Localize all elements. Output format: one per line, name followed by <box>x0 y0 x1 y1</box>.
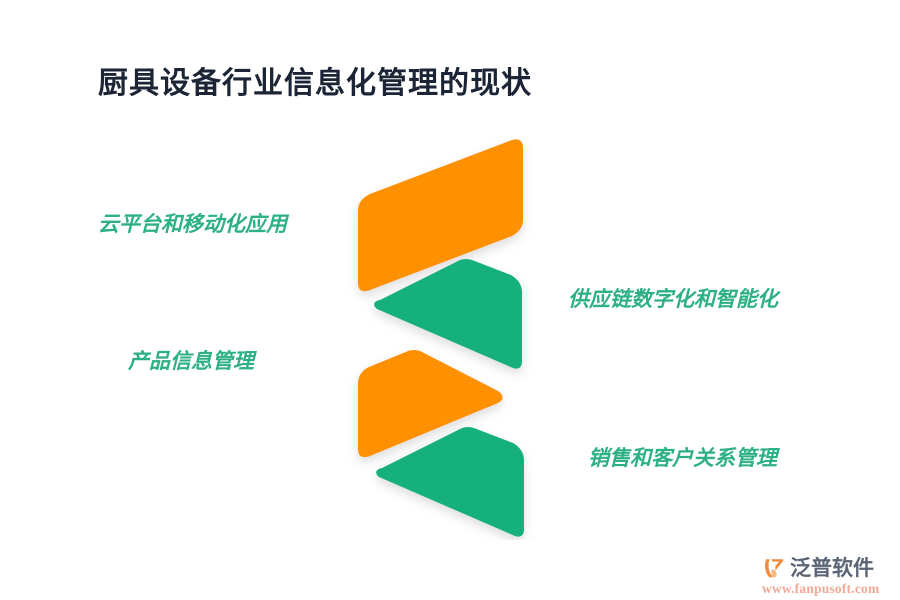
stage-label-supply-chain: 供应链数字化和智能化 <box>568 283 778 313</box>
stage-label-product-info: 产品信息管理 <box>128 345 254 375</box>
stage-label-cloud-platform: 云平台和移动化应用 <box>98 208 287 238</box>
brand-watermark: 泛普软件 www.fanpusoft.com <box>762 556 894 598</box>
brand-name: 泛普软件 <box>790 556 874 580</box>
brand-url: www.fanpusoft.com <box>762 581 894 597</box>
zigzag-chevron-graphic <box>330 120 560 540</box>
page-title: 厨具设备行业信息化管理的现状 <box>98 58 532 102</box>
brand-logo-row: 泛普软件 <box>762 556 894 580</box>
stage-label-sales-crm: 销售和客户关系管理 <box>588 442 777 472</box>
slide-canvas: 厨具设备行业信息化管理的现状 <box>0 0 900 600</box>
fanpu-swoosh-icon <box>762 556 786 580</box>
zigzag-segment-1 <box>358 139 523 291</box>
